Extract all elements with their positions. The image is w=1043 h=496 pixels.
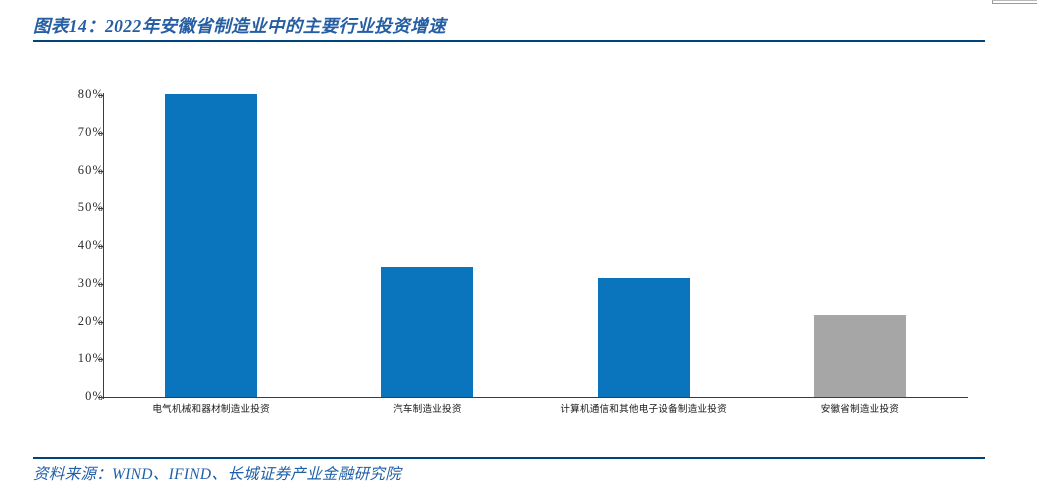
category-label-2: 汽车制造业投资 bbox=[319, 403, 535, 417]
category-label-4: 安徽省制造业投资 bbox=[752, 403, 968, 417]
x-axis-line bbox=[103, 397, 968, 398]
source-note: 资料来源：WIND、IFIND、长城证券产业金融研究院 bbox=[33, 463, 401, 487]
bars-layer bbox=[0, 48, 1043, 397]
bar-chart: 0%10%20%30%40%50%60%70%80% 电气机械和器材制造业投资汽… bbox=[0, 48, 1043, 428]
scan-artifact bbox=[992, 0, 1037, 4]
bar-3 bbox=[598, 278, 690, 397]
bar-2 bbox=[381, 267, 473, 397]
page-title: 图表14：2022年安徽省制造业中的主要行业投资增速 bbox=[33, 13, 973, 39]
footer-divider bbox=[33, 457, 985, 459]
y-axis-tick-row: 0% bbox=[33, 397, 104, 398]
category-label-3: 计算机通信和其他电子设备制造业投资 bbox=[536, 403, 752, 417]
bar-4 bbox=[814, 315, 906, 397]
y-axis-tick-mark bbox=[98, 397, 104, 398]
bar-1 bbox=[165, 94, 257, 397]
category-label-1: 电气机械和器材制造业投资 bbox=[103, 403, 319, 417]
title-divider bbox=[33, 40, 985, 42]
